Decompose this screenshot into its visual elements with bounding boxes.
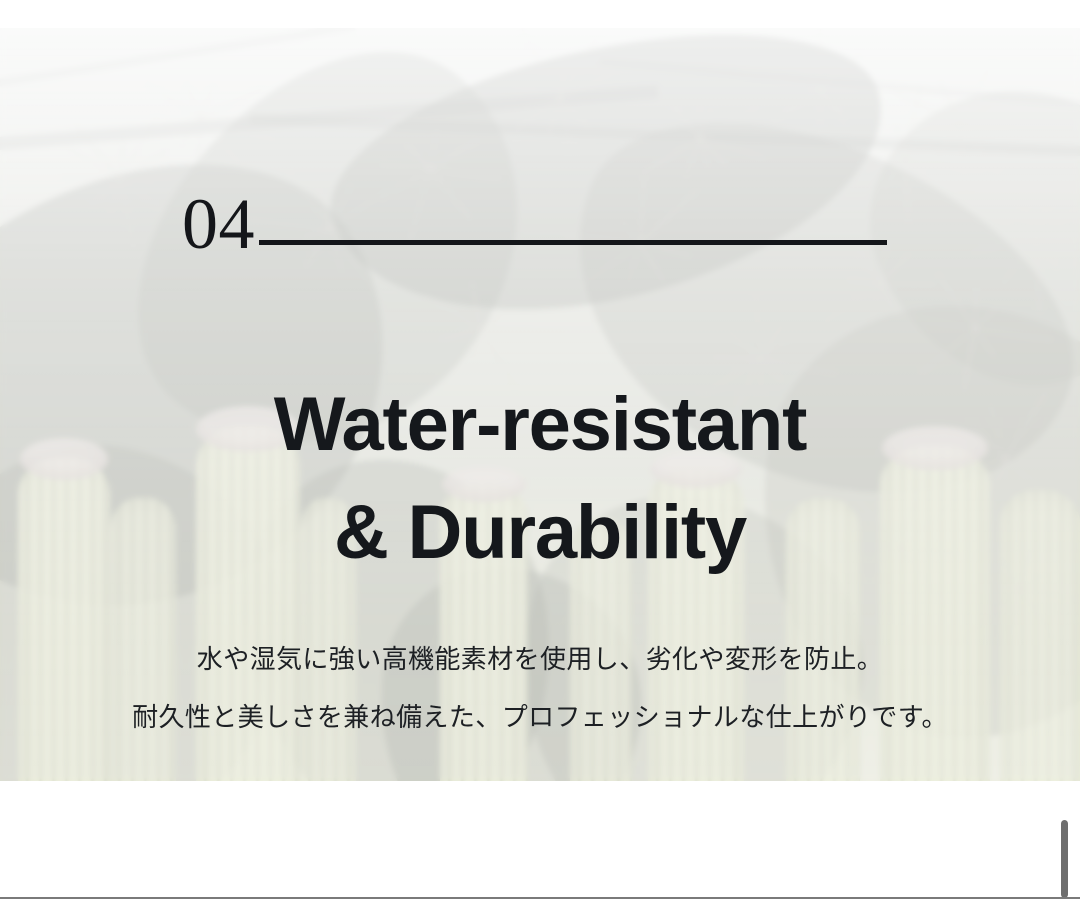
body-copy: 水や湿気に強い高機能素材を使用し、劣化や変形を防止。 耐久性と美しさを兼ね備えた… bbox=[0, 632, 1080, 747]
top-gutter bbox=[0, 0, 1080, 28]
section-divider-rule bbox=[259, 240, 887, 245]
section-eyebrow: 04 bbox=[182, 190, 942, 259]
slide-canvas[interactable]: 04 Water-resistant & Durability 水や湿気に強い高… bbox=[0, 28, 1080, 781]
slide-content: 04 Water-resistant & Durability 水や湿気に強い高… bbox=[0, 28, 1080, 781]
window-bottom-divider bbox=[0, 897, 1080, 899]
body-copy-line-1: 水や湿気に強い高機能素材を使用し、劣化や変形を防止。 bbox=[0, 632, 1080, 690]
page-title: Water-resistant & Durability bbox=[0, 371, 1080, 587]
vertical-scrollbar-thumb[interactable] bbox=[1061, 820, 1068, 898]
headline-line-1: Water-resistant bbox=[0, 371, 1080, 479]
page-white-area bbox=[0, 781, 1080, 905]
section-number: 04 bbox=[182, 190, 255, 259]
page-root: 04 Water-resistant & Durability 水や湿気に強い高… bbox=[0, 0, 1080, 905]
body-copy-line-2: 耐久性と美しさを兼ね備えた、プロフェッショナルな仕上がりです。 bbox=[0, 690, 1080, 748]
headline-line-2: & Durability bbox=[0, 479, 1080, 587]
